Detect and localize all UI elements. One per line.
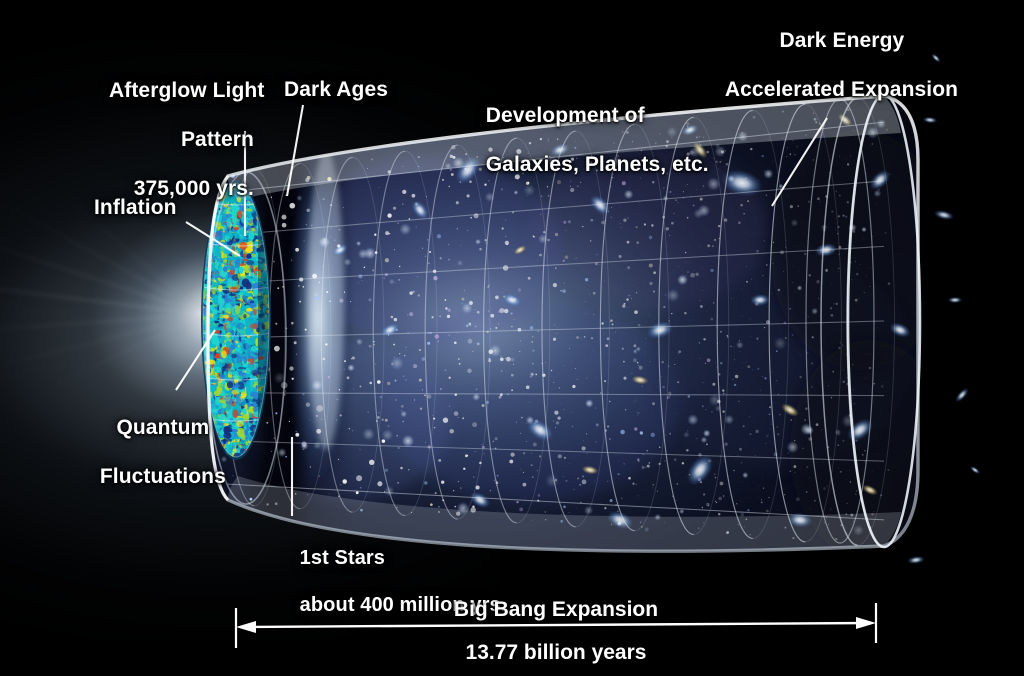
- label-dark-ages: Dark Ages: [284, 78, 388, 102]
- first-stars-line1: 1st Stars: [300, 547, 385, 569]
- dark-energy-line1: Dark Energy: [779, 29, 904, 52]
- quantum-line1: Quantum: [116, 416, 209, 439]
- label-dark-energy: Dark Energy Accelerated Expansion: [655, 5, 1005, 127]
- scale-bar-caption: Big Bang Expansion: [234, 598, 878, 622]
- dark-energy-line2: Accelerated Expansion: [725, 78, 958, 101]
- development-line2: Galaxies, Planets, etc.: [486, 153, 709, 176]
- label-quantum-fluctuations: Quantum Fluctuations: [57, 392, 245, 514]
- afterglow-line2: Pattern: [181, 128, 254, 151]
- cosmic-timeline-figure: Afterglow Light Pattern 375,000 yrs. Inf…: [0, 0, 1024, 676]
- label-first-stars: 1st Stars about 400 million yrs.: [277, 524, 506, 640]
- scale-bar-value: 13.77 billion years: [234, 641, 878, 665]
- quantum-line2: Fluctuations: [100, 465, 226, 488]
- afterglow-line1: Afterglow Light: [109, 79, 264, 102]
- development-line1: Development of: [486, 104, 645, 127]
- label-inflation: Inflation: [94, 196, 177, 220]
